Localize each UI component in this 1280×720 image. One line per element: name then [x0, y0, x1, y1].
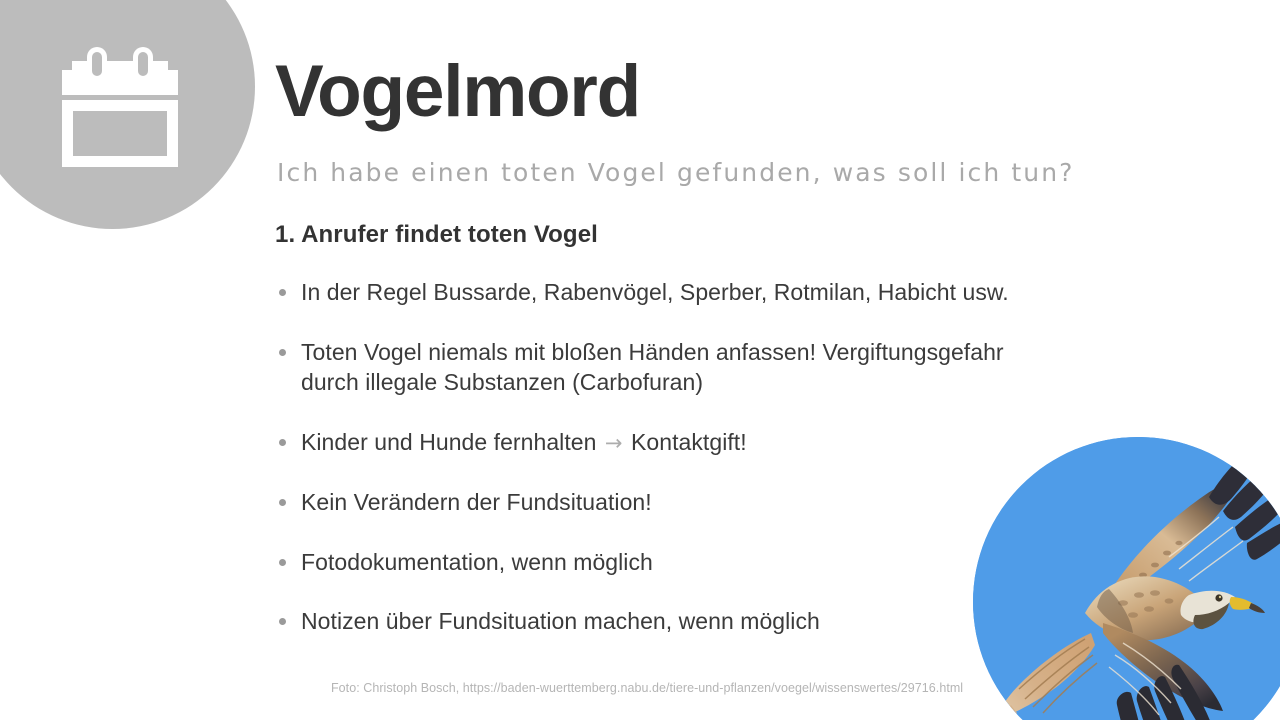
calendar-icon — [62, 47, 178, 167]
list-item: Fotodokumentation, wenn möglich — [275, 547, 1065, 578]
list-item-text: Kein Verändern der Fundsituation! — [301, 489, 652, 515]
list-item-text: In der Regel Bussarde, Rabenvögel, Sperb… — [301, 279, 1009, 305]
slide-canvas: Vogelmord Ich habe einen toten Vogel gef… — [0, 0, 1280, 720]
bullet-list: In der Regel Bussarde, Rabenvögel, Sperb… — [275, 277, 1065, 637]
list-item: Notizen über Fundsituation machen, wenn … — [275, 606, 1065, 637]
bullet-dot-icon — [279, 618, 286, 625]
bullet-dot-icon — [279, 439, 286, 446]
bullet-dot-icon — [279, 559, 286, 566]
list-item-text: Notizen über Fundsituation machen, wenn … — [301, 608, 820, 634]
list-item-text-after: Kontaktgift! — [625, 429, 747, 455]
list-item-text-before: Kinder und Hunde fernhalten — [301, 429, 603, 455]
list-item: Kinder und Hunde fernhalten → Kontaktgif… — [275, 427, 1065, 459]
list-item: Kein Verändern der Fundsituation! — [275, 487, 1065, 518]
list-item: In der Regel Bussarde, Rabenvögel, Sperb… — [275, 277, 1065, 308]
bullet-dot-icon — [279, 499, 286, 506]
page-title: Vogelmord — [275, 52, 640, 132]
bullet-dot-icon — [279, 349, 286, 356]
section-heading: 1. Anrufer findet toten Vogel — [275, 220, 598, 250]
red-kite-bird-photo — [973, 437, 1280, 720]
list-item-text: Fotodokumentation, wenn möglich — [301, 549, 653, 575]
list-item: Toten Vogel niemals mit bloßen Händen an… — [275, 337, 1065, 398]
bullet-dot-icon — [279, 289, 286, 296]
list-item-text: Toten Vogel niemals mit bloßen Händen an… — [301, 339, 1004, 396]
page-subtitle: Ich habe einen toten Vogel gefunden, was… — [277, 158, 1075, 188]
arrow-right-icon: → — [603, 431, 625, 455]
photo-credit: Foto: Christoph Bosch, https://baden-wue… — [331, 680, 963, 696]
